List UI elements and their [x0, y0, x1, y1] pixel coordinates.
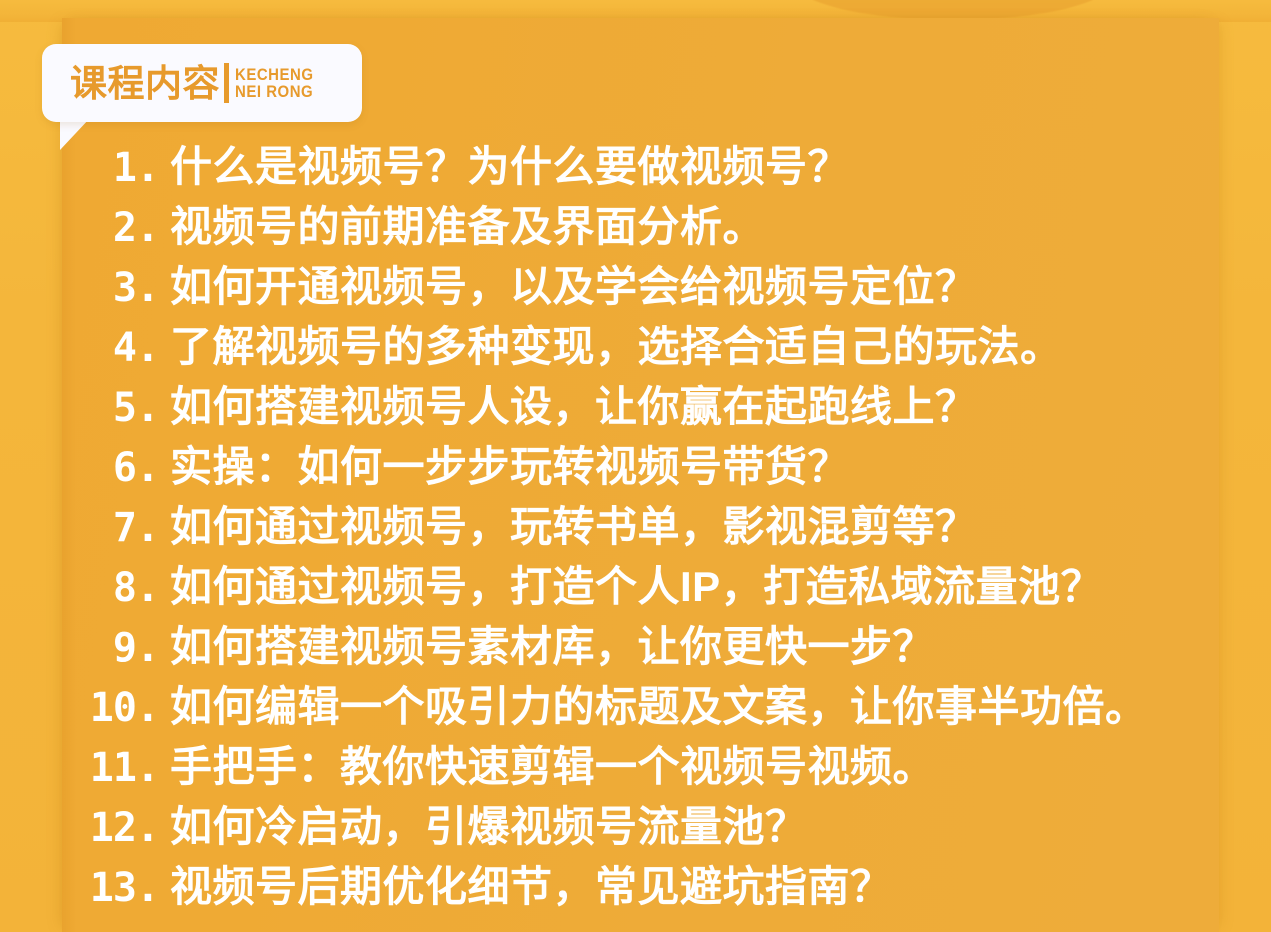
list-item: 1. 什么是视频号？为什么要做视频号？ — [62, 146, 1219, 206]
list-item: 3. 如何开通视频号，以及学会给视频号定位？ — [62, 266, 1219, 326]
list-item: 2. 视频号的前期准备及界面分析。 — [62, 206, 1219, 266]
list-item-text: 如何冷启动，引爆视频号流量池？ — [170, 806, 1219, 848]
poster-root: 课程内容 KECHENG NEI RONG 1. 什么是视频号？为什么要做视频号… — [0, 0, 1271, 932]
list-item-number: 12. — [62, 808, 170, 848]
list-item: 6. 实操：如何一步步玩转视频号带货？ — [62, 446, 1219, 506]
badge-body: 课程内容 KECHENG NEI RONG — [42, 44, 362, 122]
list-item-text: 视频号后期优化细节，常见避坑指南？ — [170, 866, 1219, 908]
list-item-text: 实操：如何一步步玩转视频号带货？ — [170, 446, 1219, 488]
list-item-number: 13. — [62, 868, 170, 908]
list-item-text: 如何编辑一个吸引力的标题及文案，让你事半功倍。 — [170, 686, 1219, 728]
list-item: 13. 视频号后期优化细节，常见避坑指南？ — [62, 866, 1219, 926]
list-item-number: 1. — [62, 148, 170, 188]
list-item: 12. 如何冷启动，引爆视频号流量池？ — [62, 806, 1219, 866]
list-item: 4. 了解视频号的多种变现，选择合适自己的玩法。 — [62, 326, 1219, 386]
list-item: 10. 如何编辑一个吸引力的标题及文案，让你事半功倍。 — [62, 686, 1219, 746]
list-item: 7. 如何通过视频号，玩转书单，影视混剪等？ — [62, 506, 1219, 566]
badge-subtitle-group: KECHENG NEI RONG — [220, 63, 324, 103]
badge-subtitle-en: KECHENG NEI RONG — [235, 66, 314, 101]
list-item-number: 4. — [62, 328, 170, 368]
list-item-number: 11. — [62, 748, 170, 788]
list-item-number: 3. — [62, 268, 170, 308]
list-item-text: 如何通过视频号，玩转书单，影视混剪等？ — [170, 506, 1219, 548]
section-title-badge: 课程内容 KECHENG NEI RONG — [42, 44, 362, 122]
list-item-text: 了解视频号的多种变现，选择合适自己的玩法。 — [170, 326, 1219, 368]
list-item-text: 如何通过视频号，打造个人IP，打造私域流量池？ — [170, 566, 1219, 608]
list-item-text: 手把手：教你快速剪辑一个视频号视频。 — [170, 746, 1219, 788]
list-item-text: 视频号的前期准备及界面分析。 — [170, 206, 1219, 248]
list-item: 9. 如何搭建视频号素材库，让你更快一步？ — [62, 626, 1219, 686]
list-item-number: 2. — [62, 208, 170, 248]
list-item: 8. 如何通过视频号，打造个人IP，打造私域流量池？ — [62, 566, 1219, 626]
list-item-number: 6. — [62, 448, 170, 488]
list-item-number: 5. — [62, 388, 170, 428]
badge-subtitle-line1: KECHENG — [235, 66, 314, 83]
content-panel: 课程内容 KECHENG NEI RONG 1. 什么是视频号？为什么要做视频号… — [62, 18, 1219, 932]
list-item-text: 如何搭建视频号人设，让你赢在起跑线上？ — [170, 386, 1219, 428]
list-item-text: 如何开通视频号，以及学会给视频号定位？ — [170, 266, 1219, 308]
list-item: 5. 如何搭建视频号人设，让你赢在起跑线上？ — [62, 386, 1219, 446]
badge-subtitle-line2: NEI RONG — [235, 83, 314, 100]
list-item-number: 8. — [62, 568, 170, 608]
badge-separator-bar — [224, 63, 229, 103]
list-item-number: 10. — [62, 688, 170, 728]
list-item-number: 7. — [62, 508, 170, 548]
list-item: 11. 手把手：教你快速剪辑一个视频号视频。 — [62, 746, 1219, 806]
course-list: 1. 什么是视频号？为什么要做视频号？ 2. 视频号的前期准备及界面分析。 3.… — [62, 146, 1219, 926]
list-item-number: 9. — [62, 628, 170, 668]
badge-title-cn: 课程内容 — [70, 65, 220, 102]
list-item-text: 如何搭建视频号素材库，让你更快一步？ — [170, 626, 1219, 668]
list-item-text: 什么是视频号？为什么要做视频号？ — [170, 146, 1219, 188]
